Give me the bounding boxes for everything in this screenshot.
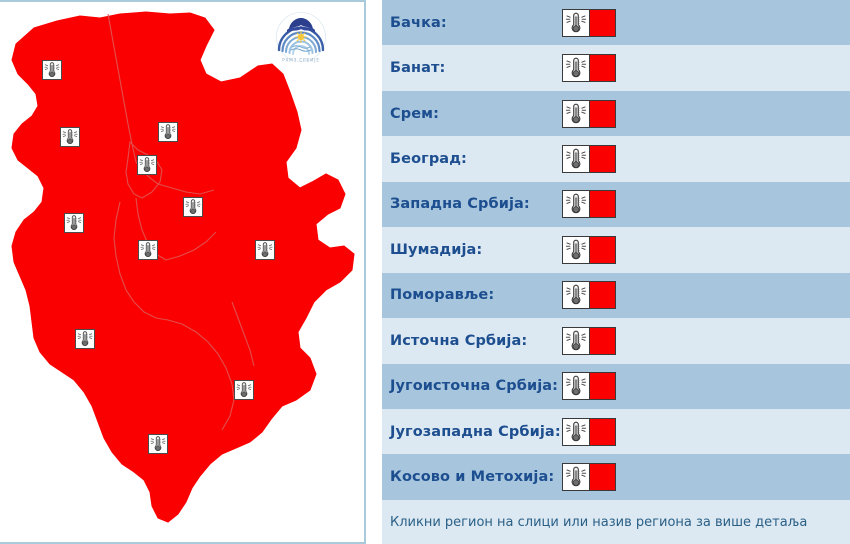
map-marker-thermometer-icon[interactable] <box>64 213 84 233</box>
warning-badge[interactable] <box>562 236 616 264</box>
region-warning-list[interactable]: Бачка:Банат:Срем:Београд:Западна Србија:… <box>382 0 850 544</box>
region-row[interactable]: Бачка: <box>382 0 850 45</box>
thermometer-hot-icon <box>566 58 585 77</box>
region-row[interactable]: Београд: <box>382 136 850 181</box>
map-marker-thermometer-icon[interactable] <box>137 155 157 175</box>
thermometer-hot-icon <box>63 130 77 144</box>
warning-level-swatch <box>590 55 615 81</box>
region-name-label[interactable]: Западна Србија: <box>390 196 530 212</box>
warning-badge[interactable] <box>562 9 616 37</box>
map-marker-thermometer-icon[interactable] <box>75 329 95 349</box>
thermometer-hot-icon <box>566 195 585 214</box>
serbia-map-svg[interactable] <box>0 2 366 544</box>
thermometer-hot-icon <box>237 383 251 397</box>
map-marker-thermometer-icon[interactable] <box>148 434 168 454</box>
region-name-label[interactable]: Југозападна Србија: <box>390 424 561 440</box>
region-name-label[interactable]: Шумадија: <box>390 242 482 258</box>
warning-badge[interactable] <box>562 372 616 400</box>
thermometer-hot-icon <box>563 10 590 36</box>
region-rows[interactable]: Бачка:Банат:Срем:Београд:Западна Србија:… <box>382 0 850 500</box>
region-name-label[interactable]: Срем: <box>390 106 439 122</box>
region-name-label[interactable]: Косово и Метохија: <box>390 469 554 485</box>
map-marker-thermometer-icon[interactable] <box>42 60 62 80</box>
thermometer-hot-icon <box>566 240 585 259</box>
thermometer-hot-icon <box>563 237 590 263</box>
map-marker-thermometer-icon[interactable] <box>138 240 158 260</box>
region-row[interactable]: Банат: <box>382 45 850 90</box>
region-row[interactable]: Западна Србија: <box>382 182 850 227</box>
region-name-label[interactable]: Банат: <box>390 60 445 76</box>
warning-level-swatch <box>590 328 615 354</box>
region-row[interactable]: Шумадија: <box>382 227 850 272</box>
thermometer-hot-icon <box>563 373 590 399</box>
thermometer-hot-icon <box>563 282 590 308</box>
thermometer-hot-icon <box>45 63 59 77</box>
region-row[interactable]: Југозападна Србија: <box>382 409 850 454</box>
thermometer-hot-icon <box>563 55 590 81</box>
thermometer-hot-icon <box>563 328 590 354</box>
thermometer-hot-icon <box>258 243 272 257</box>
thermometer-hot-icon <box>563 419 590 445</box>
warning-badge[interactable] <box>562 463 616 491</box>
warning-badge[interactable] <box>562 145 616 173</box>
region-name-label[interactable]: Југоисточна Србија: <box>390 378 558 394</box>
warning-badge[interactable] <box>562 327 616 355</box>
region-name-label[interactable]: Београд: <box>390 151 467 167</box>
thermometer-hot-icon <box>140 158 154 172</box>
thermometer-hot-icon <box>78 332 92 346</box>
region-name-label[interactable]: Поморавље: <box>390 287 494 303</box>
warning-level-swatch <box>590 101 615 127</box>
help-note-text: Кликни регион на слици или назив региона… <box>382 515 807 530</box>
warning-level-swatch <box>590 191 615 217</box>
warning-level-swatch <box>590 10 615 36</box>
warning-level-swatch <box>590 282 615 308</box>
region-row[interactable]: Источна Србија: <box>382 318 850 363</box>
region-row[interactable]: Косово и Метохија: <box>382 454 850 499</box>
warning-badge[interactable] <box>562 281 616 309</box>
thermometer-hot-icon <box>566 376 585 395</box>
warning-badge[interactable] <box>562 418 616 446</box>
map-marker-thermometer-icon[interactable] <box>158 122 178 142</box>
warning-level-swatch <box>590 237 615 263</box>
logo-caption: РХМЗ СРБИЈЕ <box>282 58 320 63</box>
warning-level-swatch <box>590 464 615 490</box>
serbia-landmass <box>12 12 354 522</box>
region-name-label[interactable]: Источна Србија: <box>390 333 527 349</box>
thermometer-hot-icon <box>566 286 585 305</box>
thermometer-hot-icon <box>566 331 585 350</box>
serbia-outline <box>12 12 354 522</box>
map-marker-thermometer-icon[interactable] <box>255 240 275 260</box>
weather-warning-page: РХМЗ СРБИЈЕ Бачка:Банат:Срем:Београд:Зап… <box>0 0 850 544</box>
thermometer-hot-icon <box>151 437 165 451</box>
thermometer-hot-icon <box>563 101 590 127</box>
thermometer-hot-icon <box>566 149 585 168</box>
map-marker-thermometer-icon[interactable] <box>183 197 203 217</box>
map-marker-thermometer-icon[interactable] <box>234 380 254 400</box>
thermometer-hot-icon <box>186 200 200 214</box>
warning-level-swatch <box>590 146 615 172</box>
thermometer-hot-icon <box>563 191 590 217</box>
serbia-map-panel[interactable]: РХМЗ СРБИЈЕ <box>0 0 366 544</box>
thermometer-hot-icon <box>566 467 585 486</box>
region-row[interactable]: Југоисточна Србија: <box>382 364 850 409</box>
thermometer-hot-icon <box>566 104 585 123</box>
thermometer-hot-icon <box>563 464 590 490</box>
thermometer-hot-icon <box>141 243 155 257</box>
warning-level-swatch <box>590 373 615 399</box>
map-marker-thermometer-icon[interactable] <box>60 127 80 147</box>
warning-level-swatch <box>590 419 615 445</box>
rhmz-logo: РХМЗ СРБИЈЕ <box>274 10 328 68</box>
thermometer-hot-icon <box>67 216 81 230</box>
region-row[interactable]: Поморавље: <box>382 273 850 318</box>
thermometer-hot-icon <box>161 125 175 139</box>
warning-badge[interactable] <box>562 190 616 218</box>
region-name-label[interactable]: Бачка: <box>390 15 447 31</box>
thermometer-hot-icon <box>563 146 590 172</box>
thermometer-hot-icon <box>566 422 585 441</box>
help-note: Кликни регион на слици или назив региона… <box>382 500 850 544</box>
warning-badge[interactable] <box>562 100 616 128</box>
thermometer-hot-icon <box>566 13 585 32</box>
warning-badge[interactable] <box>562 54 616 82</box>
region-row[interactable]: Срем: <box>382 91 850 136</box>
